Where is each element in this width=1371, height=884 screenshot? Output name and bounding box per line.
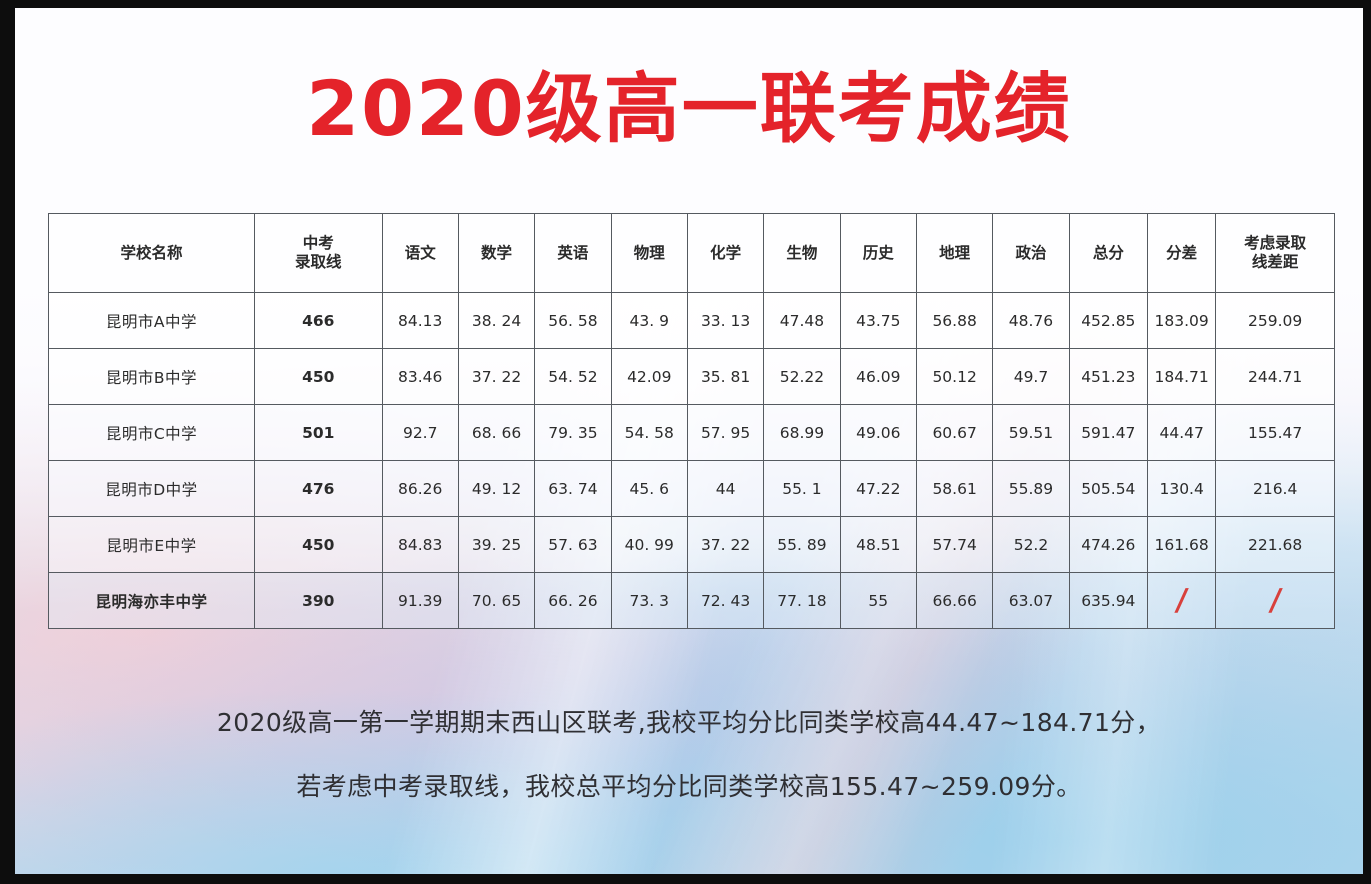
header-admission-line-line2: 录取线 [295,253,342,271]
cell-total: 635.94 [1069,573,1147,629]
cell-politics: 59.51 [993,405,1069,461]
cell-physics: 40. 99 [611,517,687,573]
cell-score-diff: / [1148,573,1216,629]
cell-admission-gap: / [1216,573,1335,629]
cell-line: 476 [254,461,382,517]
header-admission-line-line1: 中考 [303,234,334,252]
header-admission-gap-line2: 线差距 [1252,253,1299,271]
cell-school: 昆明市C中学 [49,405,255,461]
cell-history: 55 [840,573,916,629]
cell-politics: 49.7 [993,349,1069,405]
cell-line: 450 [254,349,382,405]
header-chemistry: 化学 [687,214,763,293]
header-score-diff: 分差 [1148,214,1216,293]
cell-geography: 58.61 [916,461,992,517]
cell-chinese: 83.46 [382,349,458,405]
cell-history: 47.22 [840,461,916,517]
cell-chinese: 91.39 [382,573,458,629]
cell-politics: 52.2 [993,517,1069,573]
header-school: 学校名称 [49,214,255,293]
cell-geography: 57.74 [916,517,992,573]
cell-admission-gap: 155.47 [1216,405,1335,461]
cell-politics: 48.76 [993,293,1069,349]
not-applicable-slash: / [1268,586,1283,616]
cell-english: 54. 52 [535,349,611,405]
cell-chemistry: 57. 95 [687,405,763,461]
header-chinese: 语文 [382,214,458,293]
cell-english: 66. 26 [535,573,611,629]
cell-admission-gap: 244.71 [1216,349,1335,405]
cell-math: 37. 22 [458,349,534,405]
table-row-highlighted: 昆明海亦丰中学 390 91.39 70. 65 66. 26 73. 3 72… [49,573,1335,629]
not-applicable-slash: / [1174,586,1189,616]
cell-total: 452.85 [1069,293,1147,349]
cell-score-diff: 183.09 [1148,293,1216,349]
cell-total: 451.23 [1069,349,1147,405]
cell-score-diff: 44.47 [1148,405,1216,461]
cell-english: 56. 58 [535,293,611,349]
header-admission-gap-line1: 考虑录取 [1244,234,1306,252]
cell-chemistry: 72. 43 [687,573,763,629]
cell-history: 48.51 [840,517,916,573]
cell-total: 591.47 [1069,405,1147,461]
cell-english: 57. 63 [535,517,611,573]
cell-line: 466 [254,293,382,349]
cell-politics: 55.89 [993,461,1069,517]
cell-english: 79. 35 [535,405,611,461]
cell-math: 38. 24 [458,293,534,349]
cell-english: 63. 74 [535,461,611,517]
cell-school: 昆明市D中学 [49,461,255,517]
cell-biology: 55. 1 [764,461,840,517]
header-total: 总分 [1069,214,1147,293]
cell-chinese: 92.7 [382,405,458,461]
header-politics: 政治 [993,214,1069,293]
cell-total: 474.26 [1069,517,1147,573]
table-row: 昆明市B中学 450 83.46 37. 22 54. 52 42.09 35.… [49,349,1335,405]
cell-math: 39. 25 [458,517,534,573]
cell-biology: 68.99 [764,405,840,461]
cell-geography: 60.67 [916,405,992,461]
cell-physics: 43. 9 [611,293,687,349]
cell-geography: 56.88 [916,293,992,349]
table-header-row: 学校名称 中考 录取线 语文 数学 英语 物理 化学 生物 历史 地理 政治 总… [49,214,1335,293]
cell-school: 昆明市B中学 [49,349,255,405]
cell-biology: 55. 89 [764,517,840,573]
table-row: 昆明市E中学 450 84.83 39. 25 57. 63 40. 99 37… [49,517,1335,573]
cell-physics: 73. 3 [611,573,687,629]
table-row: 昆明市D中学 476 86.26 49. 12 63. 74 45. 6 44 … [49,461,1335,517]
header-english: 英语 [535,214,611,293]
cell-history: 49.06 [840,405,916,461]
table-row: 昆明市A中学 466 84.13 38. 24 56. 58 43. 9 33.… [49,293,1335,349]
page-title: 2020级高一联考成绩 [15,71,1363,147]
cell-line: 450 [254,517,382,573]
cell-total: 505.54 [1069,461,1147,517]
summary-line-1: 2020级高一第一学期期末西山区联考,我校平均分比同类学校高44.47~184.… [15,708,1363,738]
cell-chemistry: 35. 81 [687,349,763,405]
cell-geography: 50.12 [916,349,992,405]
cell-admission-gap: 259.09 [1216,293,1335,349]
cell-score-diff: 184.71 [1148,349,1216,405]
cell-chinese: 86.26 [382,461,458,517]
table-row: 昆明市C中学 501 92.7 68. 66 79. 35 54. 58 57.… [49,405,1335,461]
cell-chinese: 84.83 [382,517,458,573]
slide-canvas: 2020级高一联考成绩 学校名称 中考 录取线 语文 数学 英语 物理 化学 生… [15,8,1363,874]
cell-physics: 42.09 [611,349,687,405]
cell-line: 390 [254,573,382,629]
header-biology: 生物 [764,214,840,293]
cell-math: 68. 66 [458,405,534,461]
cell-chemistry: 37. 22 [687,517,763,573]
cell-physics: 54. 58 [611,405,687,461]
cell-biology: 77. 18 [764,573,840,629]
cell-geography: 66.66 [916,573,992,629]
header-math: 数学 [458,214,534,293]
summary-line-2: 若考虑中考录取线，我校总平均分比同类学校高155.47~259.09分。 [15,772,1363,802]
cell-biology: 47.48 [764,293,840,349]
cell-score-diff: 130.4 [1148,461,1216,517]
cell-line: 501 [254,405,382,461]
cell-biology: 52.22 [764,349,840,405]
header-physics: 物理 [611,214,687,293]
cell-chemistry: 44 [687,461,763,517]
cell-physics: 45. 6 [611,461,687,517]
cell-history: 43.75 [840,293,916,349]
cell-politics: 63.07 [993,573,1069,629]
cell-math: 70. 65 [458,573,534,629]
cell-chinese: 84.13 [382,293,458,349]
summary-footer: 2020级高一第一学期期末西山区联考,我校平均分比同类学校高44.47~184.… [15,708,1363,802]
header-geography: 地理 [916,214,992,293]
cell-chemistry: 33. 13 [687,293,763,349]
cell-math: 49. 12 [458,461,534,517]
cell-admission-gap: 216.4 [1216,461,1335,517]
cell-school: 昆明市E中学 [49,517,255,573]
cell-admission-gap: 221.68 [1216,517,1335,573]
cell-school: 昆明市A中学 [49,293,255,349]
header-admission-line: 中考 录取线 [254,214,382,293]
cell-school: 昆明海亦丰中学 [49,573,255,629]
cell-score-diff: 161.68 [1148,517,1216,573]
cell-history: 46.09 [840,349,916,405]
scores-table: 学校名称 中考 录取线 语文 数学 英语 物理 化学 生物 历史 地理 政治 总… [48,213,1335,629]
header-admission-gap: 考虑录取 线差距 [1216,214,1335,293]
header-history: 历史 [840,214,916,293]
